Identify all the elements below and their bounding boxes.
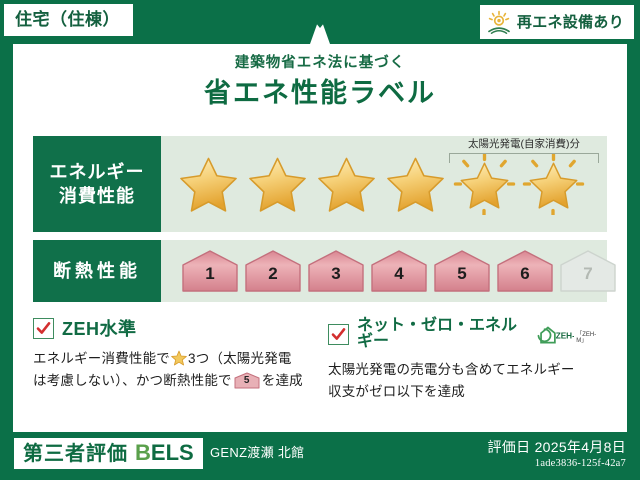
insulation-grade-badge: 2: [244, 249, 302, 293]
claim-zeh-standard: ZEH水準 エネルギー消費性能で3つ（太陽光発電は考慮しない）、かつ断熱性能で5…: [33, 318, 323, 404]
evaluation-id: 1ade3836-125f-42a7: [487, 457, 626, 471]
renewable-equipment-label: 再エネ設備あり: [517, 15, 624, 30]
claim-zeh-desc-part1: エネルギー消費性能で: [33, 351, 170, 366]
claim-zeh-desc-part3: は考慮しない）、かつ断熱性能で: [33, 373, 232, 388]
claim-net-zero-energy: ネット・ゼロ・エネルギー ZEH-M 「ZEH-M」 太陽光発電の売電分も含めて…: [323, 318, 613, 404]
solar-self-consumption-note: 太陽光発電(自家消費)分: [449, 139, 599, 163]
evaluation-date: 評価日 2025年4月8日: [487, 438, 626, 457]
bels-jp-label: 第三者評価: [23, 444, 128, 464]
energy-performance-caption: エネルギー 消費性能: [33, 136, 161, 232]
grade-value: 6: [496, 265, 554, 282]
insulation-grade-badge: 5: [433, 249, 491, 293]
evaluation-date-value: 2025年4月8日: [535, 439, 626, 455]
bels-badge: 第三者評価 BELS: [14, 438, 203, 469]
claim-nze-desc-line1: 太陽光発電の売電分も含めてエネルギー: [328, 362, 575, 377]
energy-caption-line1: エネルギー: [50, 160, 145, 184]
label-footer: 第三者評価 BELS GENZ渡瀬 北館 評価日 2025年4月8日 1ade3…: [0, 432, 640, 480]
bels-letter-b: B: [135, 440, 151, 465]
claims-section: ZEH水準 エネルギー消費性能で3つ（太陽光発電は考慮しない）、かつ断熱性能で5…: [33, 318, 613, 404]
insulation-performance-row: 断熱性能 1 2 3: [33, 240, 607, 302]
claim-nze-title: ネット・ゼロ・エネルギー: [357, 318, 524, 350]
claim-zeh-description: エネルギー消費性能で3つ（太陽光発電は考慮しない）、かつ断熱性能で5を達成: [33, 348, 313, 393]
insulation-grade-badge: 1: [181, 249, 239, 293]
svg-text:ZEH-M: ZEH-M: [555, 331, 574, 340]
zeh-m-logo-icon: ZEH-M 「ZEH-M」: [535, 322, 604, 346]
insulation-grade-badge-inactive: 7: [559, 249, 617, 293]
solar-note-label: 太陽光発電(自家消費)分: [449, 139, 599, 150]
renewable-equipment-tag: 再エネ設備あり: [480, 5, 634, 39]
inline-grade-value: 5: [234, 376, 260, 386]
star-icon: [315, 153, 378, 215]
page-title: 建築物省エネ法に基づく 省エネ性能ラベル: [0, 56, 640, 107]
claim-nze-desc-line2: 収支がゼロ以下を達成: [328, 384, 465, 399]
grade-value: 4: [370, 265, 428, 282]
claim-zeh-title: ZEH水準: [62, 320, 137, 338]
insulation-performance-caption: 断熱性能: [33, 240, 161, 302]
insulation-caption-label: 断熱性能: [53, 262, 141, 280]
grade-value: 7: [559, 265, 617, 282]
evaluation-info: 評価日 2025年4月8日 1ade3836-125f-42a7: [487, 438, 626, 471]
title-subline: 建築物省エネ法に基づく: [0, 56, 640, 71]
claim-zeh-desc-part4: を達成: [262, 373, 303, 388]
building-type-tag: 住宅（住棟）: [4, 4, 133, 36]
insulation-performance-body: 1 2 3 4 5: [161, 240, 617, 302]
building-name: GENZ渡瀬 北館: [210, 446, 304, 459]
zeh-m-logo-caption: 「ZEH-M」: [576, 332, 603, 346]
claim-zeh-desc-part2: 3つ（太陽光発電: [188, 351, 292, 366]
claim-nze-header: ネット・ゼロ・エネルギー ZEH-M 「ZEH-M」: [328, 318, 603, 350]
insulation-grade-badge: 6: [496, 249, 554, 293]
claim-nze-description: 太陽光発電の売電分も含めてエネルギー収支がゼロ以下を達成: [328, 359, 603, 404]
checkbox-checked-icon: [33, 318, 54, 339]
energy-caption-line2: 消費性能: [59, 184, 135, 208]
claim-zeh-header: ZEH水準: [33, 318, 313, 339]
energy-performance-row: エネルギー 消費性能: [33, 136, 607, 232]
star-icon: [171, 350, 187, 366]
grade-value: 3: [307, 265, 365, 282]
insulation-grade-scale: 1 2 3 4 5: [161, 249, 617, 293]
solar-sun-icon: [486, 10, 512, 34]
insulation-grade-badge: 4: [370, 249, 428, 293]
insulation-grade-badge: 3: [307, 249, 365, 293]
inline-grade-badge: 5: [234, 372, 260, 389]
energy-performance-body: 太陽光発電(自家消費)分: [161, 136, 607, 232]
star-icon: [384, 153, 447, 215]
solar-note-bracket: [449, 153, 599, 163]
checkbox-checked-icon: [328, 324, 349, 345]
bels-en-label: BELS: [135, 442, 194, 464]
star-icon: [246, 153, 309, 215]
grade-value: 5: [433, 265, 491, 282]
energy-performance-label: 住宅（住棟） 再エネ設備あり 建築物省エネ法に基づく 省エネ性能ラベル: [0, 0, 640, 480]
evaluation-date-label: 評価日: [487, 439, 530, 455]
bels-letters-rest: ELS: [151, 440, 194, 465]
grade-value: 1: [181, 265, 239, 282]
star-icon: [177, 153, 240, 215]
grade-value: 2: [244, 265, 302, 282]
title-mainline: 省エネ性能ラベル: [0, 80, 640, 107]
